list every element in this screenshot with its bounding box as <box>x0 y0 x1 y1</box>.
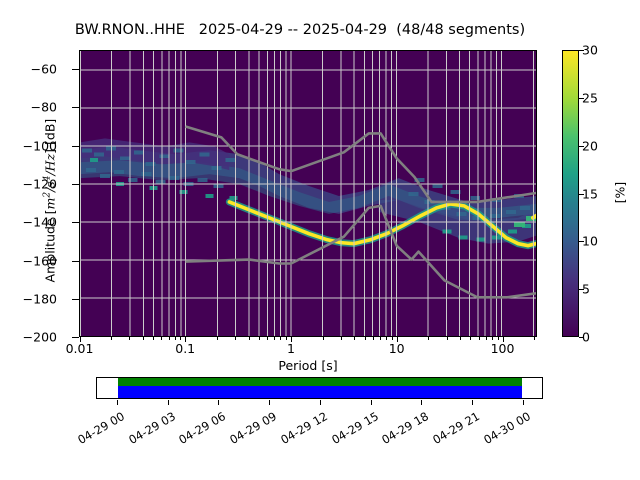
x-minor-tick <box>323 337 324 340</box>
timeline-tick-mark <box>218 400 219 405</box>
timeline-tick-mark <box>371 400 372 405</box>
ppsd-canvas <box>80 51 536 336</box>
timeline-tick-label: 04-29 06 <box>169 409 228 451</box>
colorbar-tick-label: 20 <box>582 138 598 153</box>
coverage-bar-blue <box>118 386 522 398</box>
timeline-tick-label: 04-29 03 <box>119 409 178 451</box>
x-minor-tick <box>267 337 268 340</box>
colorbar-tick-mark <box>579 194 584 195</box>
x-minor-tick <box>428 337 429 340</box>
x-minor-tick <box>447 337 448 340</box>
colorbar-tick-label: 15 <box>582 186 598 201</box>
x-tick-mark <box>185 337 186 342</box>
x-tick-mark <box>291 337 292 342</box>
y-tick-mark <box>72 299 79 300</box>
colorbar-tick-mark <box>579 337 584 338</box>
x-minor-tick <box>392 337 393 340</box>
colorbar-tick-label: 10 <box>582 234 598 249</box>
colorbar-tick-mark <box>579 98 584 99</box>
x-minor-tick <box>161 337 162 340</box>
x-minor-tick <box>498 337 499 340</box>
x-minor-tick <box>534 337 535 340</box>
x-minor-tick <box>486 337 487 340</box>
ppsd-plot-area <box>79 50 537 337</box>
x-minor-tick <box>365 337 366 340</box>
y-tick-mark <box>72 337 79 338</box>
colorbar-tick-label: 25 <box>582 90 598 105</box>
timeline-tick-label: 04-29 15 <box>322 409 381 451</box>
timeline-tick-label: 04-29 00 <box>68 409 127 451</box>
coverage-bar-green <box>118 378 522 386</box>
colorbar-tick-label: 30 <box>582 43 598 58</box>
x-minor-tick <box>153 337 154 340</box>
timeline-tick-label: 04-30 00 <box>474 409 533 451</box>
x-minor-tick <box>129 337 130 340</box>
page-title: BW.RNON..HHE 2025-04-29 -- 2025-04-29 (4… <box>0 22 600 38</box>
x-minor-tick <box>280 337 281 340</box>
x-tick-label: 10 <box>389 341 405 356</box>
x-minor-tick <box>386 337 387 340</box>
x-minor-tick <box>286 337 287 340</box>
y-tick-mark <box>72 69 79 70</box>
timeline-tick-mark <box>421 400 422 405</box>
x-minor-tick <box>259 337 260 340</box>
x-minor-tick <box>479 337 480 340</box>
y-tick-label: −200 <box>0 330 57 345</box>
x-minor-tick <box>249 337 250 340</box>
x-minor-tick <box>460 337 461 340</box>
colorbar-tick-mark <box>579 50 584 51</box>
x-minor-tick <box>180 337 181 340</box>
timeline-tick-mark <box>269 400 270 405</box>
ppsd-figure: BW.RNON..HHE 2025-04-29 -- 2025-04-29 (4… <box>0 0 640 480</box>
x-minor-tick <box>470 337 471 340</box>
y-tick-mark <box>72 261 79 262</box>
colorbar-tick-mark <box>579 146 584 147</box>
x-tick-mark <box>503 337 504 342</box>
x-minor-tick <box>354 337 355 340</box>
x-minor-tick <box>169 337 170 340</box>
x-tick-mark <box>397 337 398 342</box>
colorbar-label: [%] <box>613 133 628 253</box>
x-minor-tick <box>380 337 381 340</box>
timeline-tick-label: 04-29 21 <box>423 409 482 451</box>
x-minor-tick <box>175 337 176 340</box>
y-tick-mark <box>72 146 79 147</box>
timeline-tick-mark <box>168 400 169 405</box>
x-minor-tick <box>341 337 342 340</box>
x-minor-tick <box>235 337 236 340</box>
timeline-tick-label: 04-29 12 <box>271 409 330 451</box>
x-minor-tick <box>217 337 218 340</box>
coverage-timeline[interactable] <box>96 377 543 399</box>
x-axis-label: Period [s] <box>79 358 537 373</box>
x-tick-mark <box>80 337 81 342</box>
y-tick-mark <box>72 222 79 223</box>
timeline-tick-label: 04-29 18 <box>372 409 431 451</box>
x-minor-tick <box>274 337 275 340</box>
colorbar <box>562 50 579 337</box>
colorbar-tick-mark <box>579 289 584 290</box>
x-tick-label: 1 <box>287 341 295 356</box>
x-tick-label: 0.1 <box>175 341 195 356</box>
x-minor-tick <box>373 337 374 340</box>
y-axis-label: Amplitude [m2/s4/Hz] [dB] <box>42 71 57 331</box>
density-haze <box>80 138 536 243</box>
timeline-tick-mark <box>117 400 118 405</box>
timeline-tick-mark <box>523 400 524 405</box>
timeline-tick-mark <box>320 400 321 405</box>
x-minor-tick <box>111 337 112 340</box>
timeline-tick-mark <box>472 400 473 405</box>
timeline-tick-label: 04-29 09 <box>220 409 279 451</box>
x-minor-tick <box>143 337 144 340</box>
x-minor-tick <box>492 337 493 340</box>
y-tick-mark <box>72 184 79 185</box>
x-tick-label: 0.01 <box>66 341 94 356</box>
colorbar-tick-mark <box>579 241 584 242</box>
y-tick-mark <box>72 107 79 108</box>
x-tick-label: 100 <box>491 341 515 356</box>
